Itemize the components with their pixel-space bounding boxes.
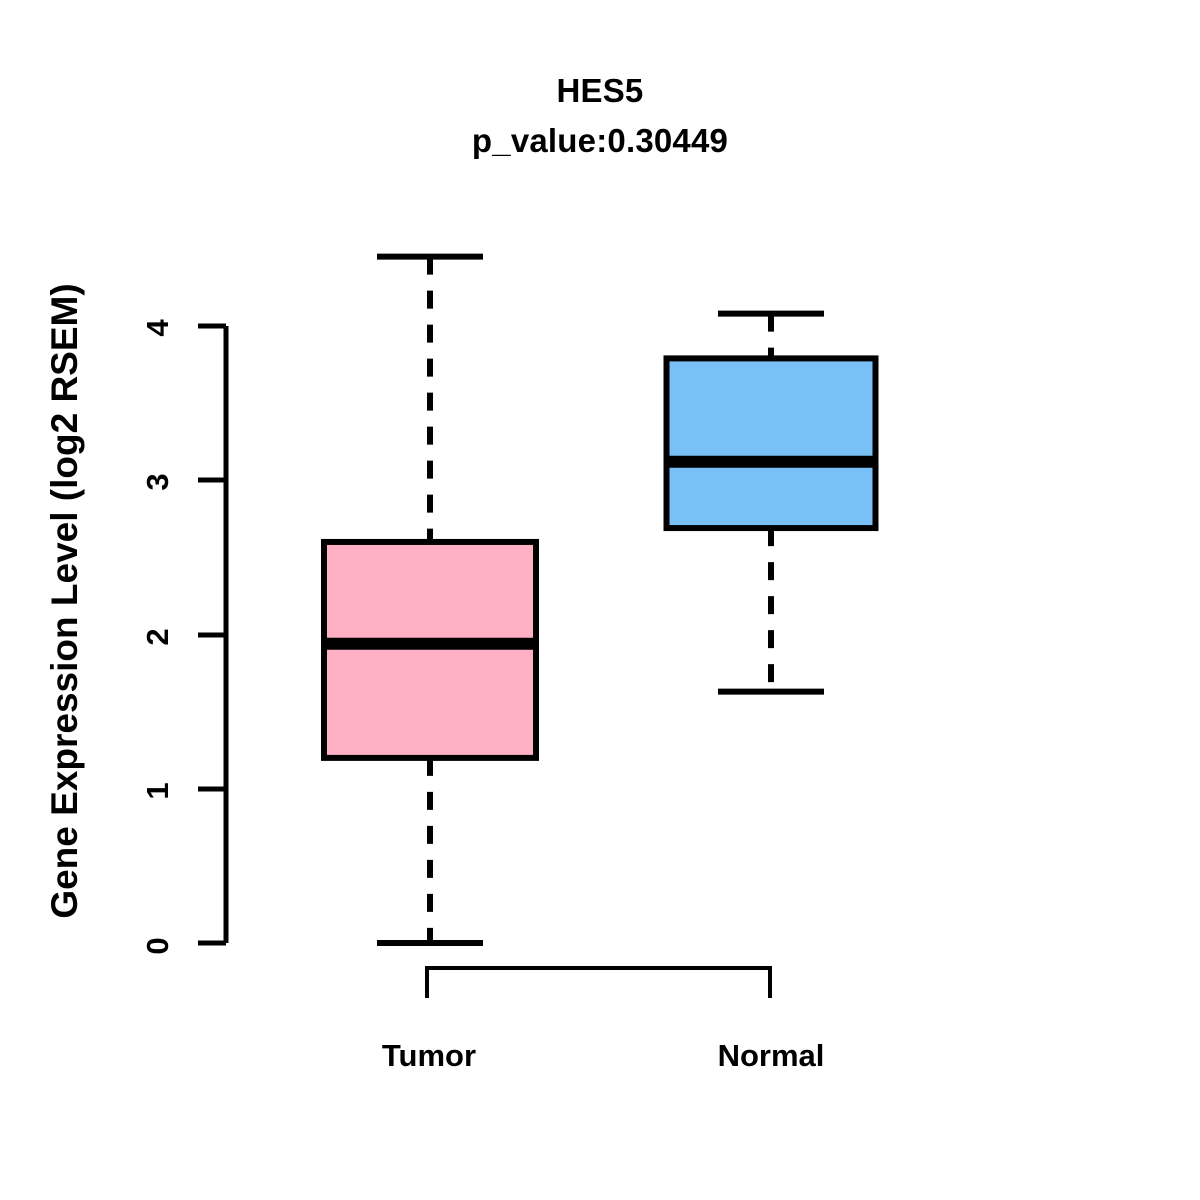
plot-canvas bbox=[0, 0, 1200, 1200]
x-axis-bracket bbox=[427, 968, 770, 998]
boxplot-figure: HES5 p_value:0.30449 Gene Expression Lev… bbox=[0, 0, 1200, 1200]
box-normal[interactable] bbox=[667, 314, 876, 692]
normal-box-rect[interactable] bbox=[667, 358, 876, 528]
tumor-box-rect[interactable] bbox=[324, 542, 536, 758]
box-tumor[interactable] bbox=[324, 257, 536, 943]
